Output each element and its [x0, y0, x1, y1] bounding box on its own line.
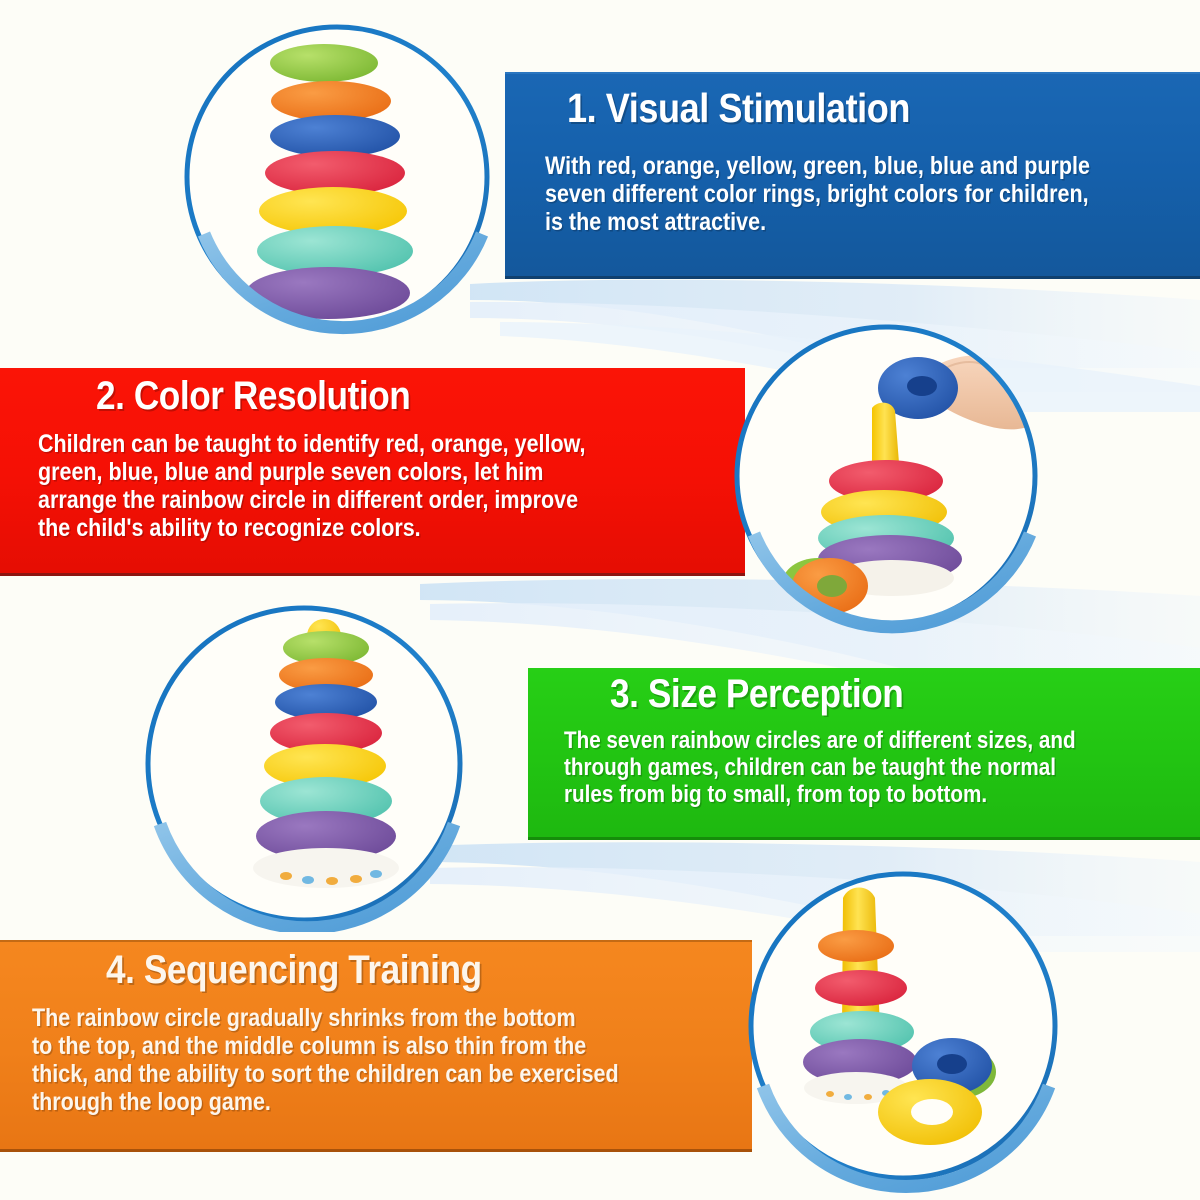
panel-4-body-line-2: to the top, and the middle column is als…	[32, 1032, 619, 1060]
panel-3-body-line-3: rules from big to small, from top to bot…	[564, 782, 1076, 809]
panel-1-body-line-3: is the most attractive.	[545, 208, 1090, 236]
panel-4-body-line-4: through the loop game.	[32, 1088, 619, 1116]
panel-visual-stimulation: 1. Visual Stimulation With red, orange, …	[505, 72, 1200, 279]
photo-3-illustration	[136, 596, 472, 932]
panel-4-body: The rainbow circle gradually shrinks fro…	[32, 1004, 619, 1116]
photo-stacked-rings	[176, 16, 498, 338]
panel-2-body-line-4: the child's ability to recognize colors.	[38, 514, 586, 542]
panel-1-body: With red, orange, yellow, green, blue, b…	[545, 152, 1090, 236]
panel-1-title: 1. Visual Stimulation	[567, 88, 910, 130]
panel-4-title: 4. Sequencing Training	[106, 950, 482, 991]
photo-complete-tower	[136, 596, 472, 932]
panel-2-title: 2. Color Resolution	[96, 376, 410, 417]
panel-4-body-line-1: The rainbow circle gradually shrinks fro…	[32, 1004, 619, 1032]
photo-1-illustration	[176, 16, 498, 338]
panel-1-body-line-2: seven different color rings, bright colo…	[545, 180, 1090, 208]
panel-size-perception: 3. Size Perception The seven rainbow cir…	[528, 668, 1200, 840]
panel-4-body-line-3: thick, and the ability to sort the child…	[32, 1060, 619, 1088]
photo-partial-stack	[738, 866, 1068, 1196]
panel-3-body-line-2: through games, children can be taught th…	[564, 755, 1076, 782]
panel-3-body: The seven rainbow circles are of differe…	[564, 728, 1076, 809]
panel-2-body-line-3: arrange the rainbow circle in different …	[38, 486, 586, 514]
panel-color-resolution: 2. Color Resolution Children can be taug…	[0, 368, 745, 576]
panel-2-body: Children can be taught to identify red, …	[38, 430, 586, 542]
panel-2-body-line-2: green, blue, blue and purple seven color…	[38, 458, 586, 486]
panel-3-body-line-1: The seven rainbow circles are of differe…	[564, 728, 1076, 755]
panel-3-title: 3. Size Perception	[610, 674, 903, 715]
photo-hand-placing-ring	[726, 316, 1046, 636]
panel-2-body-line-1: Children can be taught to identify red, …	[38, 430, 586, 458]
panel-sequencing-training: 4. Sequencing Training The rainbow circl…	[0, 940, 752, 1152]
infographic-canvas: 1. Visual Stimulation With red, orange, …	[0, 0, 1200, 1200]
photo-4-illustration	[738, 866, 1068, 1196]
photo-2-illustration	[726, 316, 1046, 636]
panel-1-body-line-1: With red, orange, yellow, green, blue, b…	[545, 152, 1090, 180]
